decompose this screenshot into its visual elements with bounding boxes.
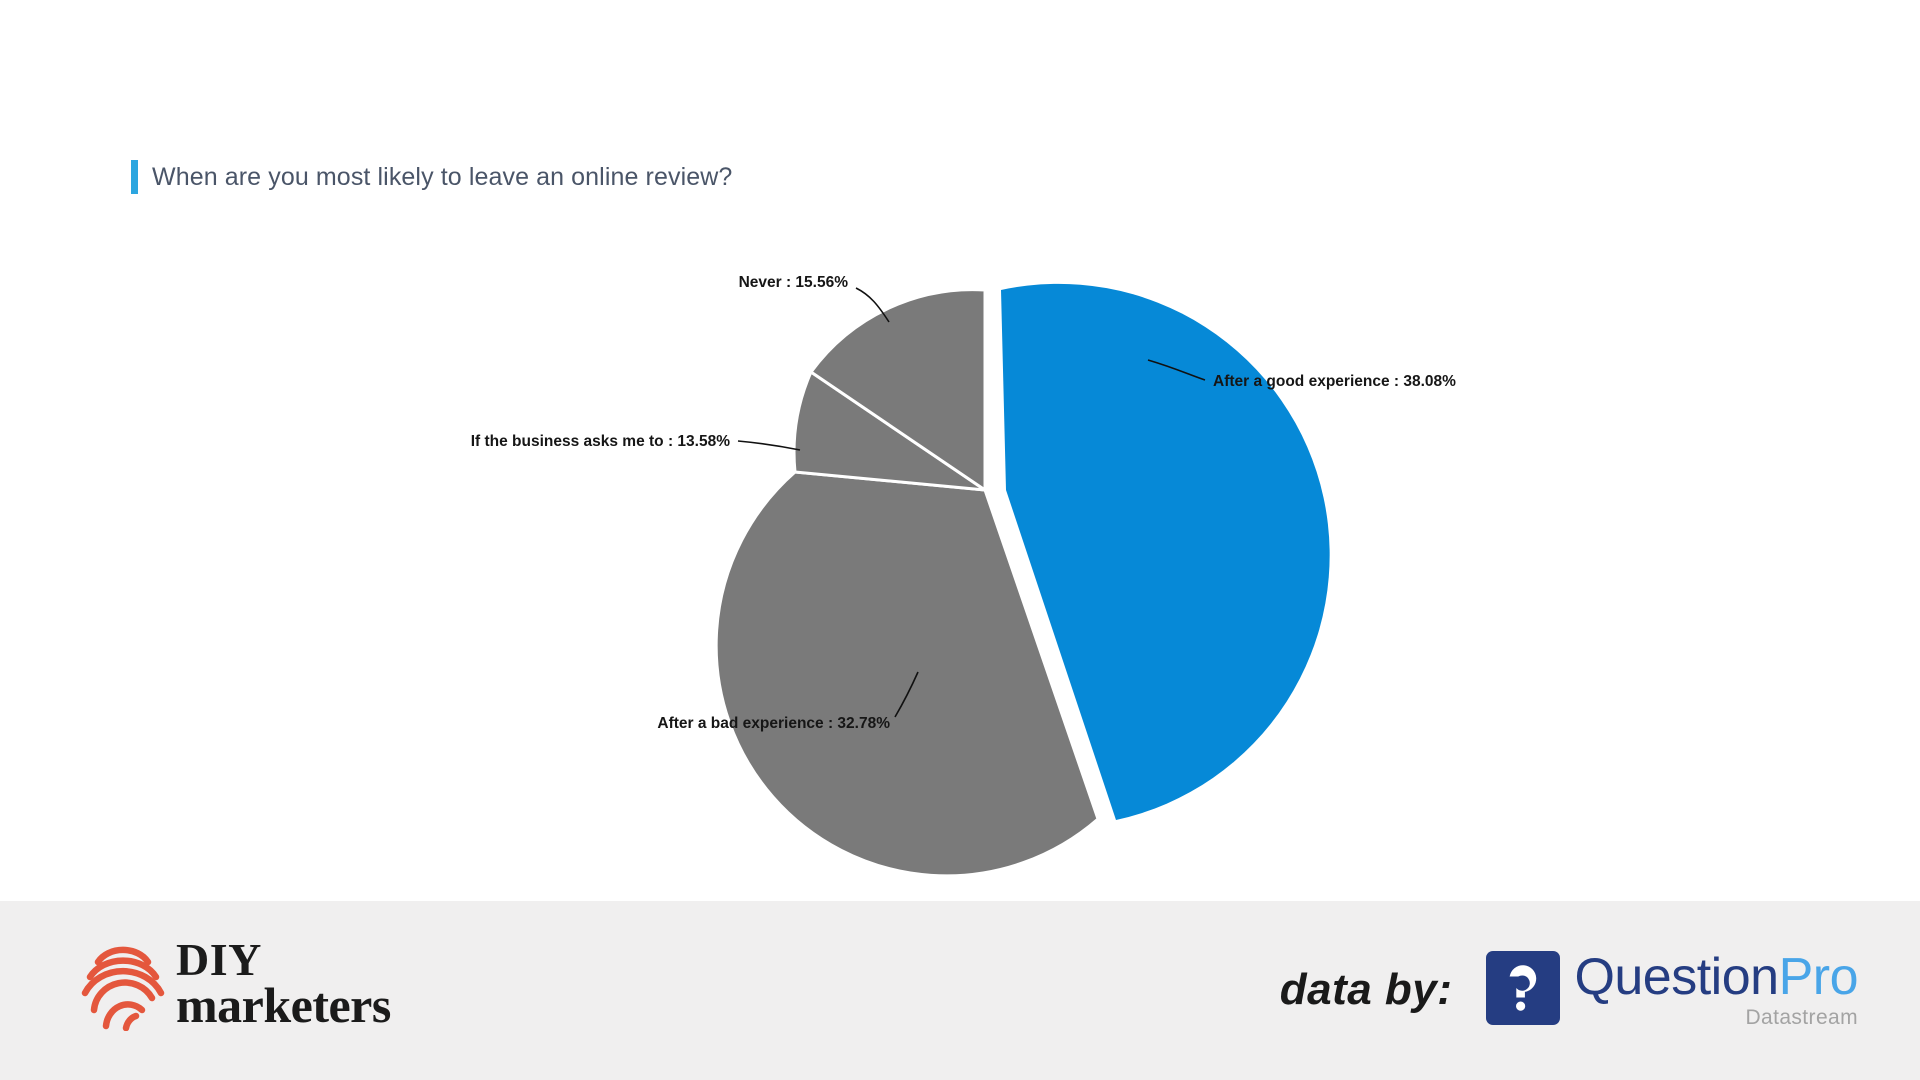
diy-marketers-wordmark: DIY marketers — [176, 939, 391, 1027]
footer-bar: DIY marketers data by: QuestionPro Datas… — [0, 901, 1920, 1080]
questionpro-wordmark: QuestionPro Datastream — [1574, 951, 1858, 1028]
title-accent-bar — [131, 160, 138, 194]
pie-chart: After a good experience : 38.08% Never :… — [0, 200, 1920, 880]
title-text: When are you most likely to leave an onl… — [152, 163, 732, 192]
questionpro-logo: QuestionPro Datastream — [1486, 951, 1858, 1028]
pie-chart-svg: After a good experience : 38.08% Never :… — [0, 200, 1920, 880]
questionpro-name-part1: Question — [1574, 948, 1778, 1006]
attribution-group: data by: QuestionPro Datastream — [1280, 951, 1858, 1028]
pie-label-if-the-business-asks-me-to: If the business asks me to : 13.58% — [471, 433, 731, 450]
fingerprint-icon — [80, 936, 166, 1031]
leader-line-if-the-business-asks-me-to — [738, 441, 800, 450]
data-by-label: data by: — [1280, 965, 1453, 1015]
pie-label-after-a-good-experience: After a good experience : 38.08% — [1213, 373, 1456, 390]
pie-label-after-a-bad-experience: After a bad experience : 32.78% — [657, 715, 890, 732]
questionpro-subtitle: Datastream — [1745, 1007, 1858, 1028]
diy-line-1: DIY — [176, 939, 391, 981]
pie-label-never: Never : 15.56% — [739, 274, 849, 291]
page-title: When are you most likely to leave an onl… — [131, 160, 732, 194]
diy-marketers-logo: DIY marketers — [80, 936, 391, 1031]
diy-line-2: marketers — [176, 982, 391, 1028]
questionpro-mark-icon — [1486, 951, 1560, 1025]
question-mark-glyph — [1502, 963, 1544, 1013]
questionpro-name: QuestionPro — [1574, 951, 1858, 1003]
questionpro-name-part2: Pro — [1779, 948, 1858, 1006]
